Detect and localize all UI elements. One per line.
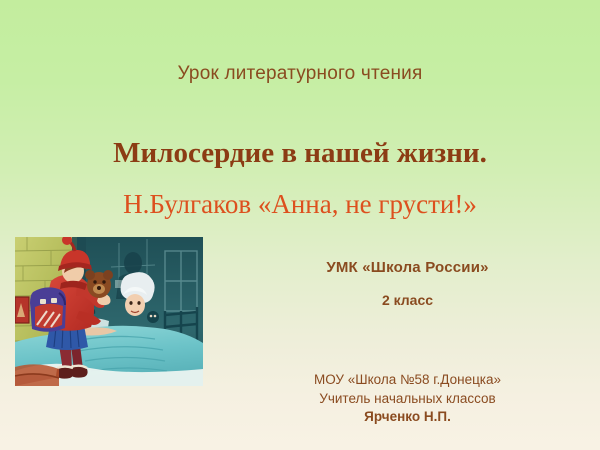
slide-book-title: Н.Булгаков «Анна, не грусти!»	[0, 189, 600, 220]
teacher-name: Ярченко Н.П.	[215, 408, 600, 427]
illustration-artwork	[15, 237, 203, 386]
program-block: УМК «Школа России» 2 класс	[215, 259, 600, 308]
school-name: МОУ «Школа №58 г.Донецка»	[215, 371, 600, 390]
umk-label: УМК «Школа России»	[215, 259, 600, 276]
slide-main-title: Милосердие в нашей жизни.	[0, 137, 600, 170]
author-block: МОУ «Школа №58 г.Донецка» Учитель началь…	[215, 371, 600, 427]
teacher-role: Учитель начальных классов	[215, 390, 600, 409]
presentation-slide: Урок литературного чтения Милосердие в н…	[0, 0, 600, 450]
book-cover-illustration	[15, 237, 203, 386]
grade-label: 2 класс	[215, 292, 600, 308]
lesson-subject-heading: Урок литературного чтения	[0, 63, 600, 85]
